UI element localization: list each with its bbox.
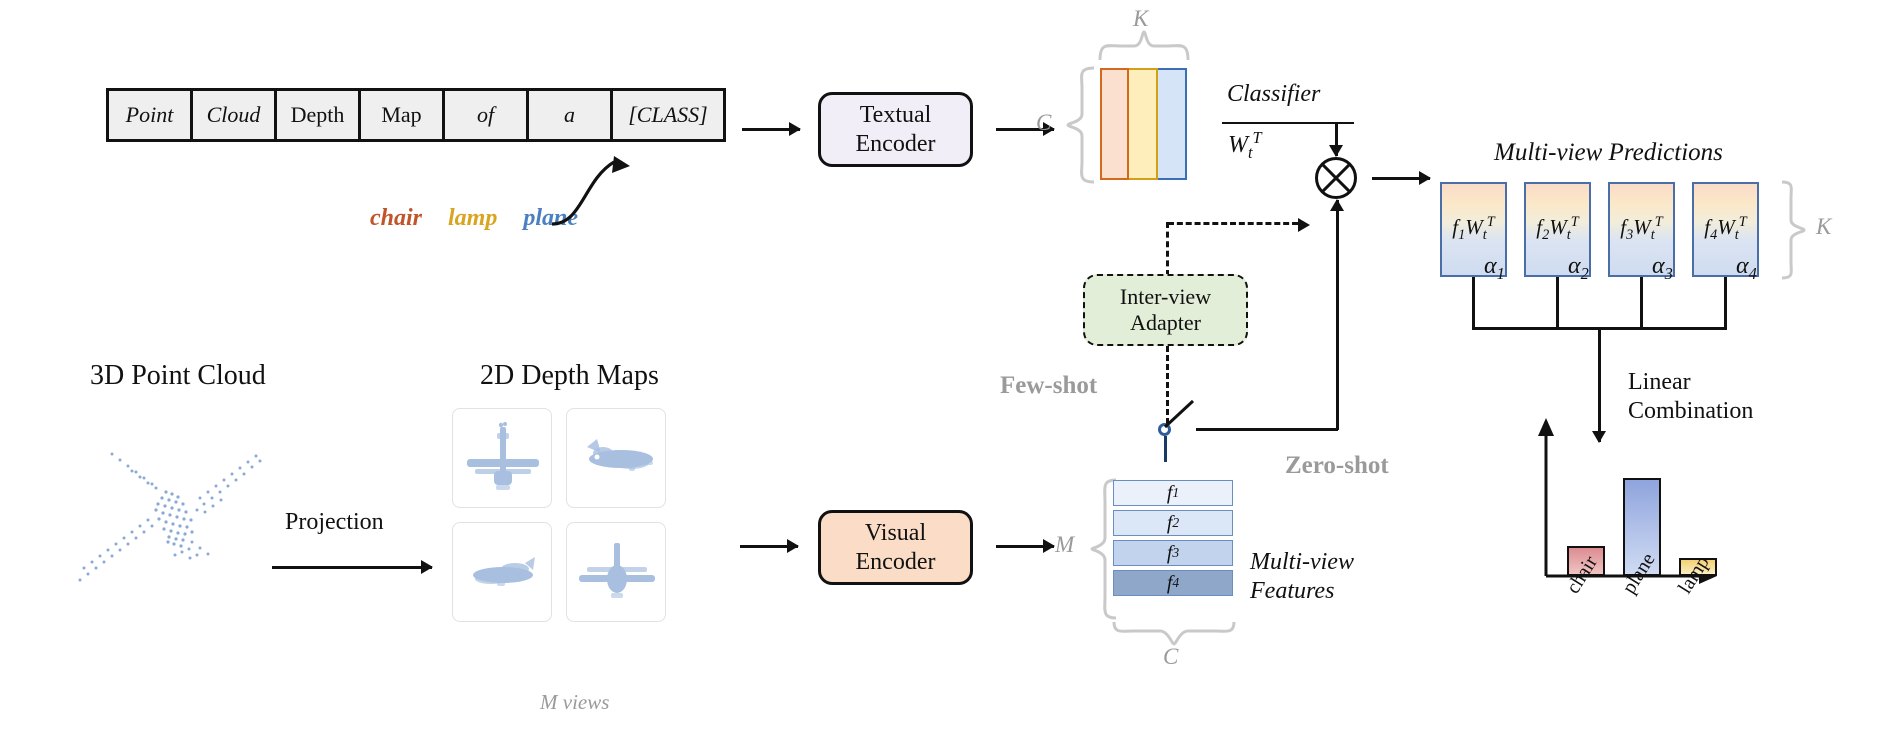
predictions-title: Multi-view Predictions <box>1494 138 1723 169</box>
classifier-column-chair <box>1100 68 1129 180</box>
depth-tile-view1 <box>452 408 552 508</box>
prompt-cell-a: a <box>529 91 613 139</box>
classifier-formula: WtT <box>1228 128 1262 163</box>
brace-c-classifier <box>1064 66 1096 184</box>
tensor-product-icon <box>1315 157 1357 199</box>
alpha-label-4: α4 <box>1736 252 1757 284</box>
prediction-label-4: f4WtT <box>1704 214 1746 244</box>
class-label-lamp: lamp <box>448 205 497 232</box>
alpha-stem-3 <box>1640 277 1643 329</box>
feature-stack: f1 f2 f3 f4 <box>1113 480 1233 596</box>
visual-encoder-label-line2: Encoder <box>856 548 936 576</box>
feature-row-3: f3 <box>1113 540 1233 566</box>
features-dim-m-label: M <box>1055 532 1074 558</box>
arrow-linear-combination <box>1598 327 1601 442</box>
depth-tile-view2-image <box>567 409 666 508</box>
zero-shot-connector-h <box>1196 428 1338 431</box>
class-label-chair: chair <box>370 205 422 232</box>
classifier-column-lamp <box>1129 68 1158 180</box>
alpha-label-2: α2 <box>1568 252 1589 284</box>
arrow-mult-to-predictions <box>1372 177 1430 180</box>
classifier-title: Classifier <box>1227 80 1320 109</box>
m-views-caption: M views <box>540 690 609 715</box>
arrow-depth-maps-to-visual-encoder <box>740 545 798 548</box>
alpha-stem-1 <box>1472 277 1475 329</box>
linear-combination-label: Linear Combination <box>1628 368 1753 427</box>
adapter-label-line1: Inter-view <box>1120 284 1211 310</box>
classifier-dim-k-label: K <box>1133 6 1148 32</box>
prediction-label-3: f3WtT <box>1620 214 1662 244</box>
diagram-canvas: Point Cloud Depth Map of a [CLASS] chair… <box>0 0 1882 746</box>
linear-combination-line1: Linear <box>1628 368 1753 397</box>
prediction-bar-chart <box>1535 466 1710 576</box>
switch-stem <box>1164 436 1167 462</box>
classifier-formula-sup: T <box>1253 128 1262 147</box>
few-shot-label: Few-shot <box>1000 372 1097 400</box>
projection-label: Projection <box>285 508 384 537</box>
depth-maps-grid <box>452 408 666 622</box>
arrow-zero-shot-to-mult <box>1336 200 1339 430</box>
zero-shot-label: Zero-shot <box>1285 452 1389 480</box>
prompt-cell-class: [CLASS] <box>613 91 723 139</box>
depth-tile-view3-image <box>453 523 552 622</box>
prompt-template-row: Point Cloud Depth Map of a [CLASS] <box>106 88 726 142</box>
depth-tile-view4 <box>566 522 666 622</box>
feature-row-4: f4 <box>1113 570 1233 596</box>
visual-encoder-box[interactable]: Visual Encoder <box>818 510 973 585</box>
feature-row-2: f2 <box>1113 510 1233 536</box>
switch-lever <box>1162 398 1198 430</box>
classifier-to-mult-connector-h <box>1336 122 1354 124</box>
prompt-cell-map: Map <box>361 91 445 139</box>
depth-tile-view2 <box>566 408 666 508</box>
prompt-cell-cloud: Cloud <box>193 91 277 139</box>
alpha-stem-2 <box>1556 277 1559 329</box>
depth-tile-view1-image <box>453 409 552 508</box>
linear-combination-line2: Combination <box>1628 397 1753 426</box>
arrow-visual-encoder-to-features <box>996 545 1054 548</box>
features-dim-c-label: C <box>1163 644 1178 670</box>
dashed-arrow-adapter-to-mult <box>1168 222 1298 225</box>
feature-row-1: f1 <box>1113 480 1233 506</box>
textual-encoder-label-line2: Encoder <box>856 130 936 158</box>
textual-encoder-box[interactable]: Textual Encoder <box>818 92 973 167</box>
features-caption-line1: Multi-view <box>1250 548 1354 577</box>
arrow-classifier-to-mult <box>1335 122 1338 156</box>
brace-k-classifier <box>1098 28 1190 62</box>
brace-k-predictions <box>1780 180 1810 280</box>
visual-encoder-label-line1: Visual <box>865 519 926 547</box>
adapter-label-line2: Adapter <box>1130 310 1201 336</box>
features-caption: Multi-view Features <box>1250 548 1354 607</box>
textual-encoder-label-line1: Textual <box>860 101 932 129</box>
prediction-label-1: f1WtT <box>1452 214 1494 244</box>
classifier-divider <box>1222 122 1352 124</box>
point-cloud-title: 3D Point Cloud <box>90 360 266 392</box>
arrow-prompt-to-textual-encoder <box>742 128 800 131</box>
classifier-dim-c-label: C <box>1036 110 1051 136</box>
classifier-column-plane <box>1158 68 1187 180</box>
dashed-line-adapter-up <box>1166 222 1169 276</box>
bar-chart-y-axis <box>1535 418 1557 578</box>
prompt-cell-depth: Depth <box>277 91 361 139</box>
prompt-cell-point: Point <box>109 91 193 139</box>
predictions-dim-k-label: K <box>1816 214 1831 240</box>
depth-tile-view4-image <box>567 523 666 622</box>
inter-view-adapter-box[interactable]: Inter-view Adapter <box>1083 274 1248 346</box>
alpha-label-1: α1 <box>1484 252 1505 284</box>
point-cloud-visual <box>70 420 270 600</box>
features-caption-line2: Features <box>1250 577 1354 606</box>
brace-c-features <box>1112 620 1236 646</box>
prompt-cell-of: of <box>445 91 529 139</box>
classifier-weight-matrix <box>1100 68 1187 180</box>
alpha-stem-4 <box>1724 277 1727 329</box>
class-substitution-arrow <box>540 140 670 230</box>
depth-tile-view3 <box>452 522 552 622</box>
depth-maps-title: 2D Depth Maps <box>480 360 659 392</box>
arrow-projection <box>272 566 432 569</box>
classifier-formula-w: W <box>1228 132 1248 158</box>
alpha-label-3: α3 <box>1652 252 1673 284</box>
prediction-label-2: f2WtT <box>1536 214 1578 244</box>
